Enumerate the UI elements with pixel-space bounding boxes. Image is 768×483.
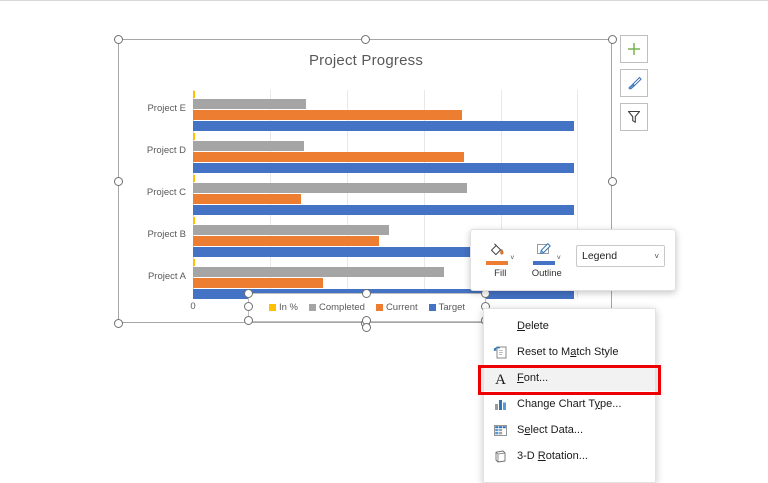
fill-color-indicator: [486, 261, 508, 265]
legend-swatch-icon: [429, 304, 436, 311]
category-label: Project C: [147, 187, 186, 198]
context-menu: Delete Reset to Match Style A Font...: [483, 308, 656, 483]
resize-handle-top-center[interactable]: [361, 35, 370, 44]
plus-icon: [626, 41, 642, 57]
resize-handle-middle-left[interactable]: [114, 177, 123, 186]
legend-swatch-icon: [376, 304, 383, 311]
change-chart-type-icon: [491, 395, 509, 413]
menu-item-3d-rotation[interactable]: 3-D Rotation...: [484, 443, 655, 469]
resize-handle-top-left[interactable]: [114, 35, 123, 44]
bar-current[interactable]: [193, 152, 464, 162]
bar-completed[interactable]: [193, 99, 306, 109]
category-group-project-d: Project D: [193, 132, 577, 173]
legend-handle-bottom-left[interactable]: [244, 316, 253, 325]
resize-handle-bottom-left[interactable]: [114, 319, 123, 328]
select-data-icon: [491, 421, 509, 439]
outline-dropdown-caret-icon[interactable]: ˅: [557, 255, 561, 265]
funnel-icon: [626, 109, 642, 125]
bar-target[interactable]: [193, 205, 574, 215]
menu-item-change-chart-type[interactable]: Change Chart Type...: [484, 391, 655, 417]
menu-item-label: Font...: [517, 372, 548, 384]
bar-target[interactable]: [193, 121, 574, 131]
outline-color-indicator: [533, 261, 555, 265]
screen-root: Project Progress Project E Project D: [0, 1, 768, 482]
menu-item-font[interactable]: A Font...: [484, 365, 655, 391]
bar-in-pct[interactable]: [193, 217, 195, 224]
menu-item-label: Change Chart Type...: [517, 398, 621, 410]
bar-current[interactable]: [193, 278, 323, 288]
fill-bucket-icon: [487, 242, 507, 260]
bar-current[interactable]: [193, 110, 462, 120]
category-group-project-c: Project C: [193, 174, 577, 215]
legend-handle-top-left[interactable]: [244, 289, 253, 298]
bar-in-pct[interactable]: [193, 175, 195, 182]
bar-completed[interactable]: [193, 225, 389, 235]
bar-completed[interactable]: [193, 183, 467, 193]
bar-current[interactable]: [193, 194, 301, 204]
reset-style-icon: [491, 343, 509, 361]
brush-icon: [626, 75, 643, 92]
menu-item-label: Reset to Match Style: [517, 346, 619, 358]
fill-dropdown-caret-icon[interactable]: ˅: [510, 255, 514, 265]
menu-item-reset-to-match-style[interactable]: Reset to Match Style: [484, 339, 655, 365]
menu-item-delete[interactable]: Delete: [484, 313, 655, 339]
chart-title[interactable]: Project Progress: [119, 52, 613, 69]
legend-item-current[interactable]: Current: [376, 302, 418, 313]
font-a-icon: A: [491, 369, 509, 387]
outline-label: Outline: [532, 268, 562, 279]
bar-completed[interactable]: [193, 267, 444, 277]
menu-item-select-data[interactable]: Select Data...: [484, 417, 655, 443]
menu-item-label: 3-D Rotation...: [517, 450, 588, 462]
bar-completed[interactable]: [193, 141, 304, 151]
legend-handle-bottom-extra[interactable]: [362, 323, 371, 332]
legend-item-target[interactable]: Target: [429, 302, 465, 313]
chevron-down-icon: ˅: [654, 252, 659, 261]
legend-item-completed[interactable]: Completed: [309, 302, 365, 313]
menu-item-label: Select Data...: [517, 424, 583, 436]
legend-swatch-icon: [309, 304, 316, 311]
category-label: Project B: [147, 229, 186, 240]
blank-icon: [491, 317, 509, 335]
legend-label: Completed: [319, 302, 365, 313]
resize-handle-top-right[interactable]: [608, 35, 617, 44]
chart-styles-button[interactable]: [620, 69, 648, 97]
category-label: Project E: [147, 103, 186, 114]
chart-element-select[interactable]: Legend ˅: [576, 245, 665, 267]
legend-label: In %: [279, 302, 298, 313]
bar-in-pct[interactable]: [193, 259, 195, 266]
svg-text:A: A: [495, 372, 506, 387]
bar-in-pct[interactable]: [193, 91, 195, 98]
fill-tool[interactable]: ˅ Fill: [481, 242, 520, 279]
legend-handle-middle-left[interactable]: [244, 302, 253, 311]
legend-handle-top-center[interactable]: [362, 289, 371, 298]
chart-filters-button[interactable]: [620, 103, 648, 131]
legend-swatch-icon: [269, 304, 276, 311]
legend-label: Current: [386, 302, 418, 313]
mini-format-toolbar: ˅ Fill ˅ Outline Legend ˅: [470, 229, 676, 291]
bar-target[interactable]: [193, 163, 574, 173]
bar-in-pct[interactable]: [193, 133, 195, 140]
resize-handle-middle-right[interactable]: [608, 177, 617, 186]
category-label: Project D: [147, 145, 186, 156]
bar-current[interactable]: [193, 236, 379, 246]
rotation-icon: [491, 447, 509, 465]
menu-item-label: Delete: [517, 320, 549, 332]
chart-elements-button[interactable]: [620, 35, 648, 63]
pen-outline-icon: [534, 242, 554, 260]
fill-label: Fill: [494, 268, 506, 279]
outline-tool[interactable]: ˅ Outline: [528, 242, 567, 279]
legend-item-in-pct[interactable]: In %: [269, 302, 298, 313]
legend-label: Target: [439, 302, 465, 313]
chart-side-buttons: [620, 35, 648, 137]
chart-element-select-value: Legend: [582, 250, 617, 262]
x-tick-0: 0: [190, 301, 195, 312]
category-label: Project A: [148, 271, 186, 282]
category-group-project-e: Project E: [193, 90, 577, 131]
